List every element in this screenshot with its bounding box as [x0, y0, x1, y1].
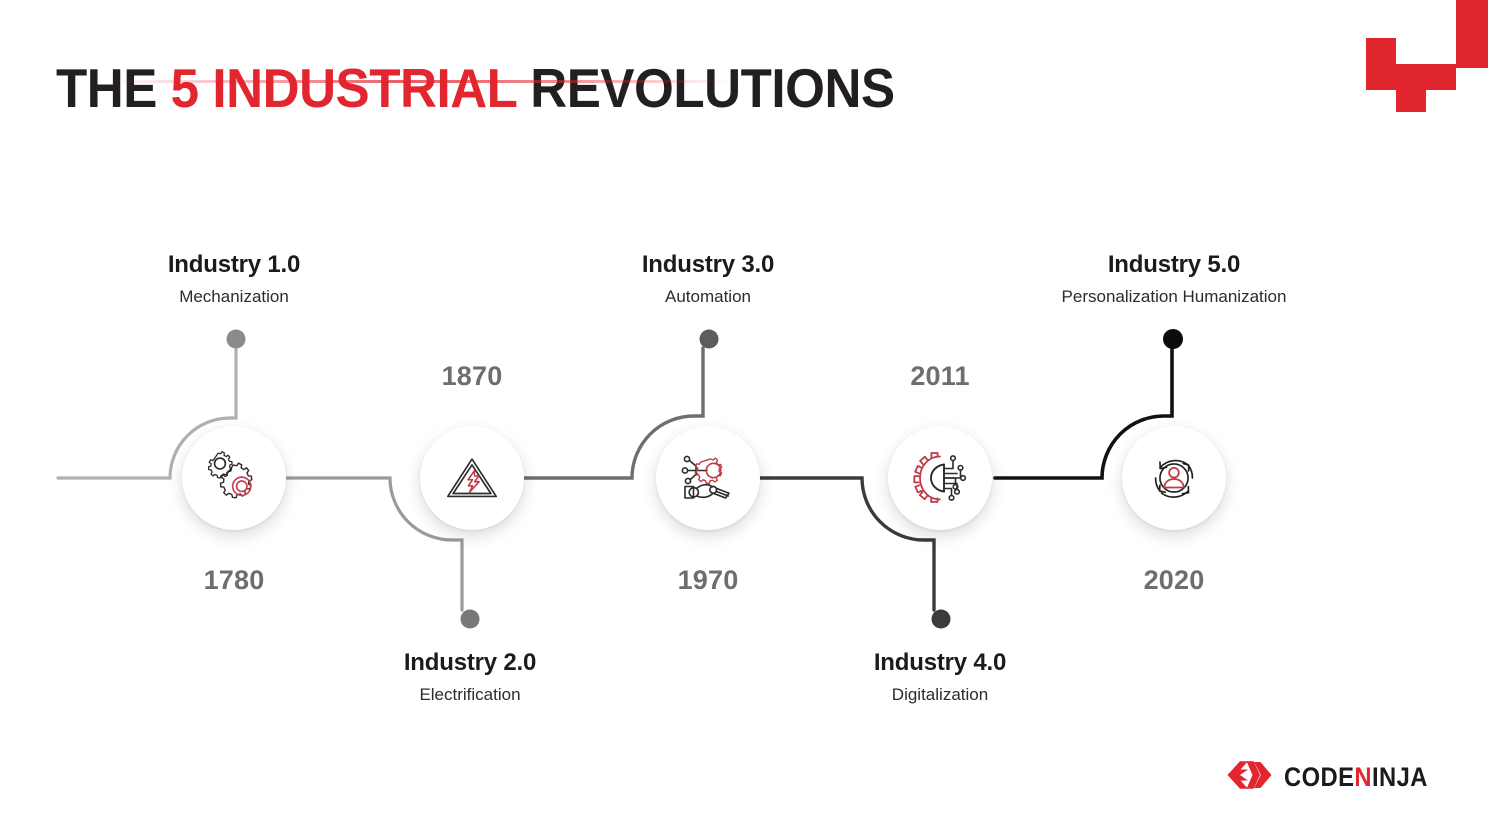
node-label-industry-1: Industry 1.0 Mechanization: [64, 250, 404, 310]
node-title-industry-5: Industry 5.0: [1004, 250, 1344, 280]
cyber-gear-circuit-icon: [908, 446, 972, 510]
brand-name-part1: CODE: [1284, 762, 1354, 792]
title-block: THE 5 INDUSTRIAL REVOLUTIONS: [56, 58, 956, 118]
brand-name-accent: N: [1355, 762, 1373, 792]
branch-dot-4: [932, 610, 951, 629]
node-year-industry-1: 1780: [134, 565, 334, 596]
human-centric-cycle-icon: [1143, 447, 1205, 509]
node-title-industry-3: Industry 3.0: [538, 250, 878, 280]
code-brackets-icon: [1227, 760, 1273, 795]
page-title: THE 5 INDUSTRIAL REVOLUTIONS: [56, 58, 893, 118]
node-title-industry-2: Industry 2.0: [300, 648, 640, 678]
timeline-node-industry-1[interactable]: [182, 426, 286, 530]
timeline-node-industry-5[interactable]: [1122, 426, 1226, 530]
node-label-industry-5: Industry 5.0 Personalization Humanizatio…: [1004, 250, 1344, 310]
electricity-warning-icon: [441, 447, 503, 509]
branch-dot-5: [1163, 329, 1183, 349]
node-label-industry-3: Industry 3.0 Automation: [538, 250, 878, 310]
timeline-connectors: [0, 0, 1488, 837]
node-year-industry-4: 2011: [840, 361, 1040, 392]
page-title-accent: 5 INDUSTRIAL: [171, 57, 517, 119]
branch-dot-3: [700, 330, 719, 349]
node-subtitle-industry-3: Automation: [538, 284, 878, 310]
page-title-part2: REVOLUTIONS: [517, 57, 895, 119]
brand-name-part2: INJA: [1372, 762, 1428, 792]
title-underline: [108, 80, 728, 83]
decor-rect-2: [1366, 38, 1396, 90]
decor-rect-1: [1456, 0, 1488, 68]
robotic-arm-icon: [676, 446, 740, 510]
gears-icon: [203, 447, 265, 509]
node-year-industry-5: 2020: [1074, 565, 1274, 596]
corner-decoration: [1340, 0, 1488, 112]
node-title-industry-1: Industry 1.0: [64, 250, 404, 280]
node-title-industry-4: Industry 4.0: [770, 648, 1110, 678]
node-year-industry-2: 1870: [372, 361, 572, 392]
page-title-part1: THE: [56, 57, 171, 119]
brand-logo: CODENINJA: [1227, 760, 1448, 795]
decor-rect-4: [1396, 86, 1426, 112]
branch-dot-1: [227, 330, 246, 349]
node-subtitle-industry-4: Digitalization: [770, 682, 1110, 708]
node-subtitle-industry-1: Mechanization: [64, 284, 404, 310]
node-label-industry-2: Industry 2.0 Electrification: [300, 648, 640, 708]
timeline-node-industry-2[interactable]: [420, 426, 524, 530]
node-subtitle-industry-5: Personalization Humanization: [1004, 284, 1344, 310]
brand-wordmark: CODENINJA: [1284, 762, 1428, 793]
node-label-industry-4: Industry 4.0 Digitalization: [770, 648, 1110, 708]
branch-dot-2: [461, 610, 480, 629]
timeline-node-industry-4[interactable]: [888, 426, 992, 530]
node-subtitle-industry-2: Electrification: [300, 682, 640, 708]
timeline-node-industry-3[interactable]: [656, 426, 760, 530]
node-year-industry-3: 1970: [608, 565, 808, 596]
